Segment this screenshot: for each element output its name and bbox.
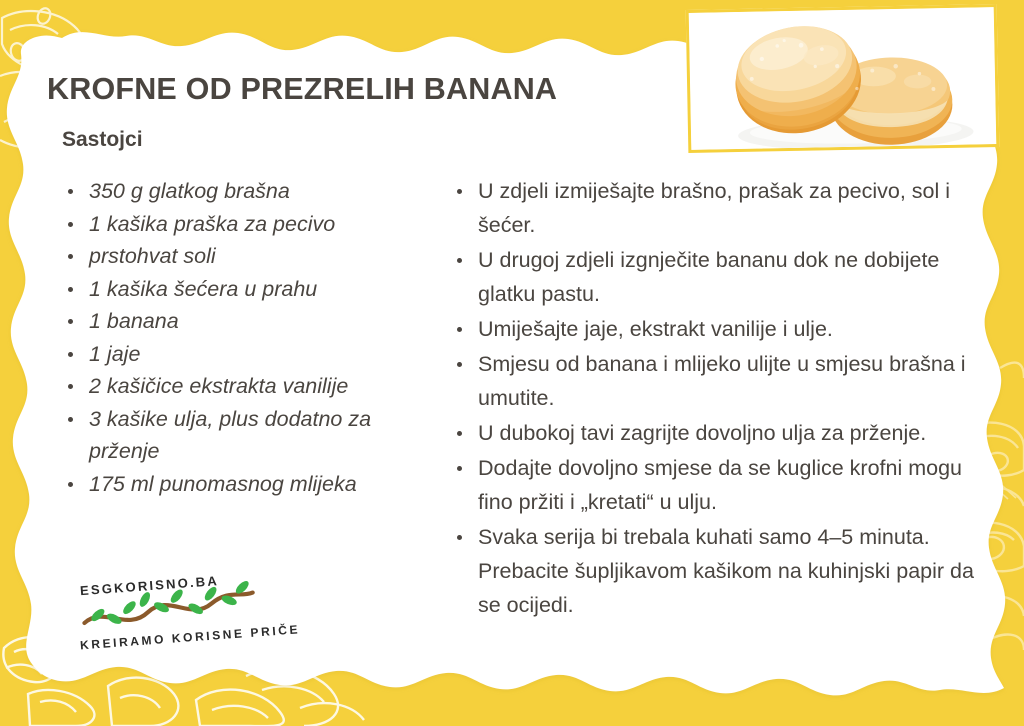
list-item: U drugoj zdjeli izgnječite bananu dok ne… xyxy=(451,243,996,311)
list-item: U dubokoj tavi zagrijte dovoljno ulja za… xyxy=(451,416,996,450)
list-item: Umiješajte jaje, ekstrakt vanilije i ulj… xyxy=(451,312,996,346)
list-item: prstohvat soli xyxy=(62,240,447,273)
instructions-list: U zdjeli izmiješajte brašno, prašak za p… xyxy=(451,174,996,623)
ingredients-list: 350 g glatkog brašna 1 kašika praška za … xyxy=(62,175,447,500)
list-item: Smjesu od banana i mlijeko ulijte u smje… xyxy=(451,347,996,415)
list-item: Dodajte dovoljno smjese da se kuglice kr… xyxy=(451,451,996,519)
recipe-card-content: KROFNE OD PREZRELIH BANANA Sastojci 350 … xyxy=(0,0,1024,726)
brand-logo: ESGKORISNO.BA KREIRAMO KORISNE PRI xyxy=(75,559,311,668)
list-item: 2 kašičice ekstrakta vanilije xyxy=(62,370,447,403)
list-item: Svaka serija bi trebala kuhati samo 4–5 … xyxy=(451,520,996,622)
list-item: 1 jaje xyxy=(62,338,447,371)
page-title: KROFNE OD PREZRELIH BANANA xyxy=(47,72,557,107)
list-item: 1 kašika praška za pecivo xyxy=(62,208,447,241)
logo-tagline-text: KREIRAMO KORISNE PRIČE xyxy=(79,621,300,652)
list-item: 3 kašike ulja, plus dodatno za prženje xyxy=(62,403,447,468)
list-item: 1 kašika šećera u prahu xyxy=(62,273,447,306)
list-item: 175 ml punomasnog mlijeka xyxy=(62,468,447,501)
ingredients-heading: Sastojci xyxy=(62,128,143,152)
list-item: 350 g glatkog brašna xyxy=(62,175,447,208)
list-item: U zdjeli izmiješajte brašno, prašak za p… xyxy=(451,174,996,242)
donuts-photo xyxy=(686,4,1000,153)
list-item: 1 banana xyxy=(62,305,447,338)
